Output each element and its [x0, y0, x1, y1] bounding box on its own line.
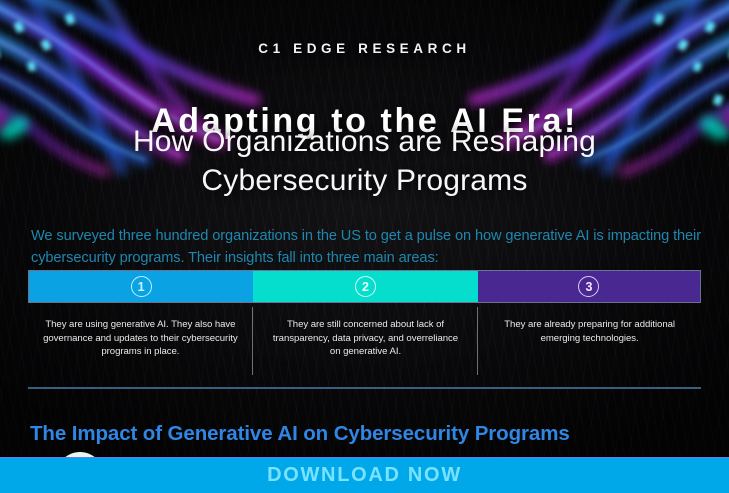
insight-column-1-text: They are using generative AI. They also …: [28, 313, 253, 375]
insight-bands: 1 2 3: [28, 270, 701, 303]
insight-band-2[interactable]: 2: [253, 271, 478, 302]
intro-paragraph: We surveyed three hundred organizations …: [31, 225, 703, 269]
insight-band-2-number: 2: [355, 276, 376, 297]
download-now-label: DOWNLOAD NOW: [267, 464, 462, 487]
page-subtitle-line-1: How Organizations are Reshaping: [133, 125, 596, 158]
insight-band-1-number: 1: [131, 276, 152, 297]
impact-section-heading: The Impact of Generative AI on Cybersecu…: [30, 422, 570, 446]
insight-columns: They are using generative AI. They also …: [28, 313, 701, 375]
research-kicker: C1 EDGE RESEARCH: [0, 41, 729, 56]
insight-column-3-text: They are already preparing for additiona…: [478, 313, 701, 375]
insight-column-2-text: They are still concerned about lack of t…: [253, 313, 478, 375]
section-divider: [28, 387, 701, 389]
page-subtitle-line-2: Cybersecurity Programs: [0, 161, 729, 200]
insight-band-1[interactable]: 1: [29, 271, 253, 302]
page-subtitle: How Organizations are Reshaping Cybersec…: [0, 122, 729, 200]
insight-band-3[interactable]: 3: [478, 271, 700, 302]
download-now-button[interactable]: DOWNLOAD NOW: [0, 457, 729, 493]
insight-band-3-number: 3: [578, 276, 599, 297]
infographic-page: C1 EDGE RESEARCH Adapting to the AI Era!…: [0, 0, 729, 493]
